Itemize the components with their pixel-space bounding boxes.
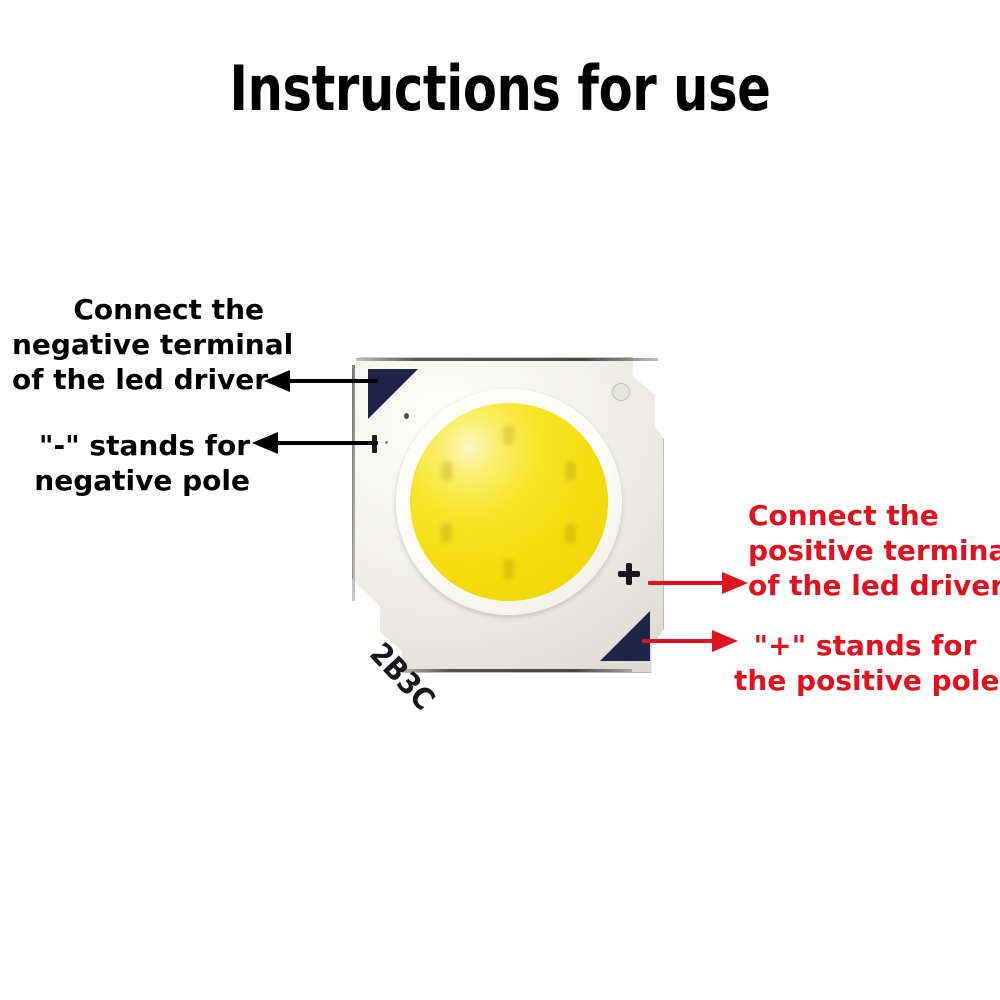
- callout-line: negative pole: [12, 463, 250, 498]
- led-die: [503, 425, 514, 445]
- led-die: [565, 461, 576, 481]
- callout-line: the positive pole: [734, 663, 996, 698]
- callout-line: Connect the: [12, 292, 264, 327]
- callout-line: Connect the: [748, 498, 996, 533]
- callout-line: of the led driver: [12, 362, 264, 397]
- cob-led-chip: 2B3C: [352, 357, 664, 673]
- arrow-shaft: [268, 441, 378, 445]
- chip-left-edge: [352, 365, 355, 601]
- callout-positive-terminal: Connect the positive terminal of the led…: [748, 498, 996, 603]
- arrowhead-right-icon: [722, 572, 748, 594]
- arrow-shaft: [648, 581, 732, 585]
- callout-negative-pole: "-" stands for negative pole: [12, 428, 250, 498]
- arrow-shaft: [642, 639, 722, 643]
- led-die: [441, 523, 452, 543]
- chip-registration-circle-icon: [612, 383, 630, 401]
- led-die: [503, 559, 514, 579]
- callout-line: negative terminal: [12, 327, 264, 362]
- arrow-negative-terminal-icon: [264, 370, 378, 392]
- arrow-positive-pole-icon: [642, 630, 738, 652]
- phosphor-ring: [396, 389, 622, 615]
- chip-bottom-edge: [404, 669, 632, 672]
- negative-mark-dot-icon: [385, 441, 388, 444]
- phosphor-emitter-surface: [410, 403, 608, 601]
- callout-positive-pole: "+" stands for the positive pole: [734, 628, 996, 698]
- page-title: Instructions for use: [100, 54, 900, 124]
- callout-line: positive terminal: [748, 533, 996, 568]
- led-die: [441, 461, 452, 481]
- arrow-negative-pole-icon: [252, 432, 378, 454]
- callout-line: "+" stands for: [734, 628, 996, 663]
- positive-polarity-mark-icon: [618, 563, 640, 585]
- callout-line: of the led driver: [748, 568, 996, 603]
- instruction-image: Instructions for use 2B3C: [0, 0, 1000, 1000]
- arrow-shaft: [280, 379, 378, 383]
- callout-line: "-" stands for: [12, 428, 250, 463]
- chip-speck: [404, 413, 409, 419]
- arrow-positive-terminal-icon: [648, 572, 748, 594]
- arrowhead-right-icon: [712, 630, 738, 652]
- chip-top-edge: [356, 358, 658, 361]
- callout-negative-terminal: Connect the negative terminal of the led…: [12, 292, 264, 397]
- led-die: [565, 523, 576, 543]
